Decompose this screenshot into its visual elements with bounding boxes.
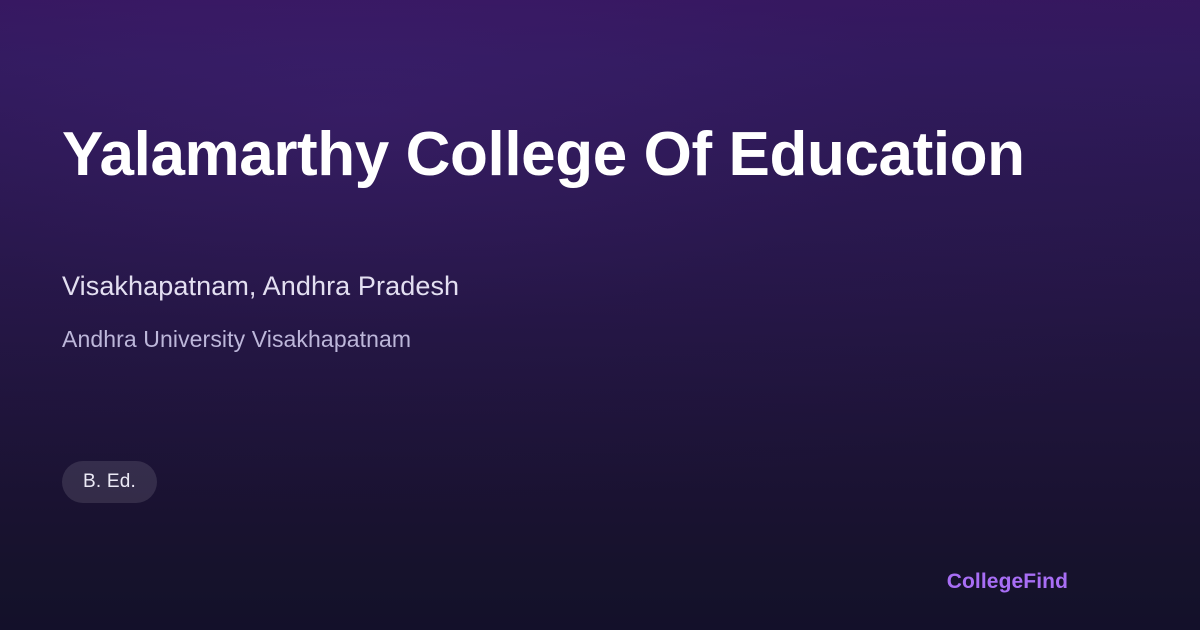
location-text: Visakhapatnam, Andhra Pradesh bbox=[62, 270, 459, 304]
page-title: Yalamarthy College Of Education bbox=[62, 122, 1025, 189]
og-share-card: Yalamarthy College Of Education Visakhap… bbox=[0, 0, 1200, 630]
brand-logo-text: CollegeFind bbox=[947, 570, 1068, 594]
card-content: Yalamarthy College Of Education Visakhap… bbox=[0, 0, 1200, 630]
affiliation-text: Andhra University Visakhapatnam bbox=[62, 325, 459, 354]
status-badge: B. Ed. bbox=[62, 461, 157, 503]
institution-meta: Visakhapatnam, Andhra Pradesh Andhra Uni… bbox=[62, 270, 459, 354]
course-badge-list: B. Ed. bbox=[62, 461, 157, 503]
